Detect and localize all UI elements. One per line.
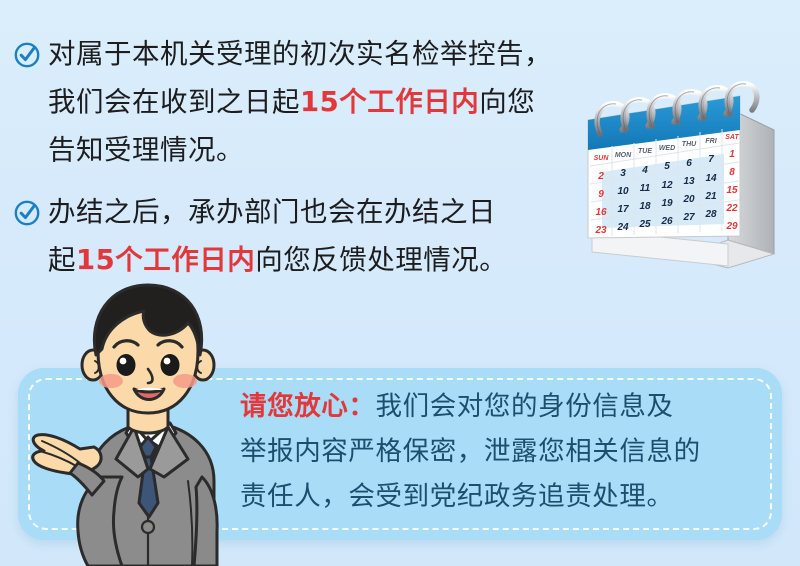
bullet-2-line-2-after: 向您反馈处理情况。 (255, 244, 507, 276)
cal-header-sun: SUN (594, 155, 610, 162)
svg-text:25: 25 (638, 219, 651, 230)
note-line-1-rest: 我们会对您的身份信息及 (376, 391, 674, 422)
bullet-1-line-2: 我们会在收到之日起15个工作日内向您 (48, 78, 552, 126)
svg-text:29: 29 (725, 221, 738, 232)
blush-right (173, 374, 197, 388)
svg-text:5: 5 (664, 161, 670, 172)
svg-text:7: 7 (708, 154, 714, 165)
bullet-2-line-2: 起15个工作日内向您反馈处理情况。 (48, 236, 507, 284)
svg-text:12: 12 (661, 180, 673, 191)
bullet-1-line-2-after: 向您 (479, 86, 535, 118)
eye-left (117, 354, 136, 376)
bullet-1-line-3: 告知受理情况。 (48, 126, 552, 174)
svg-text:22: 22 (725, 203, 738, 214)
blush-left (99, 374, 123, 388)
svg-text:3: 3 (620, 168, 626, 179)
list-item: 对属于本机关受理的初次实名检举控告， 我们会在收到之日起15个工作日内向您 告知… (14, 30, 614, 174)
svg-text:21: 21 (704, 191, 717, 202)
note-text: 请您放心：我们会对您的身份信息及 举报内容严格保密，泄露您相关信息的 责任人，会… (240, 384, 780, 519)
bullet-1-line-2-before: 我们会在收到之日起 (48, 86, 300, 118)
svg-text:13: 13 (683, 176, 695, 187)
note-line-1: 请您放心：我们会对您的身份信息及 (240, 384, 780, 429)
svg-text:27: 27 (682, 212, 695, 223)
svg-text:18: 18 (639, 201, 651, 212)
svg-text:14: 14 (705, 173, 717, 184)
svg-text:24: 24 (616, 222, 629, 233)
bullet-2-line-1: 办结之后，承办部门也会在办结之日 (48, 188, 507, 236)
bullet-text-2: 办结之后，承办部门也会在办结之日 起15个工作日内向您反馈处理情况。 (48, 188, 507, 284)
svg-text:10: 10 (617, 186, 629, 197)
bullet-list: 对属于本机关受理的初次实名检举控告， 我们会在收到之日起15个工作日内向您 告知… (14, 30, 614, 298)
svg-text:28: 28 (704, 209, 717, 220)
check-circle-icon (14, 200, 40, 226)
cal-header-fri: FRI (705, 138, 717, 145)
cal-header-tue: TUE (638, 148, 652, 155)
svg-text:23: 23 (594, 225, 607, 236)
bullet-text-1: 对属于本机关受理的初次实名检举控告， 我们会在收到之日起15个工作日内向您 告知… (48, 30, 552, 174)
poster-root: 对属于本机关受理的初次实名检举控告， 我们会在收到之日起15个工作日内向您 告知… (0, 0, 800, 566)
svg-text:8: 8 (729, 167, 735, 178)
svg-text:26: 26 (660, 216, 673, 227)
svg-text:17: 17 (617, 204, 629, 215)
cartoon-man-illustration (18, 281, 278, 566)
desk-calendar-illustration: SUN MON TUE WED THU FRI SAT 1 2 3 4 5 6 … (578, 68, 800, 283)
bullet-1-line-1: 对属于本机关受理的初次实名检举控告， (48, 30, 552, 78)
cal-header-sat: SAT (725, 134, 739, 141)
svg-text:19: 19 (661, 198, 673, 209)
note-line-3: 责任人，会受到党纪政务追责处理。 (240, 474, 780, 519)
svg-text:20: 20 (682, 194, 695, 205)
check-circle-icon (14, 42, 40, 68)
svg-text:6: 6 (686, 158, 692, 169)
svg-text:9: 9 (598, 189, 604, 200)
svg-text:2: 2 (597, 171, 604, 182)
svg-text:1: 1 (729, 149, 735, 160)
cal-header-thu: THU (682, 141, 697, 148)
svg-text:11: 11 (640, 183, 651, 194)
bullet-2-highlight: 15个工作日内 (76, 244, 255, 276)
cal-header-wed: WED (659, 145, 675, 152)
eye-right (161, 354, 180, 376)
svg-text:16: 16 (595, 207, 607, 218)
cal-header-mon: MON (615, 152, 632, 159)
svg-text:15: 15 (726, 185, 738, 196)
bullet-1-highlight: 15个工作日内 (300, 86, 479, 118)
bullet-2-line-2-before: 起 (48, 244, 76, 276)
svg-text:4: 4 (641, 165, 648, 176)
jacket-button (142, 521, 154, 533)
note-line-2: 举报内容严格保密，泄露您相关信息的 (240, 429, 780, 474)
list-item: 办结之后，承办部门也会在办结之日 起15个工作日内向您反馈处理情况。 (14, 188, 614, 284)
